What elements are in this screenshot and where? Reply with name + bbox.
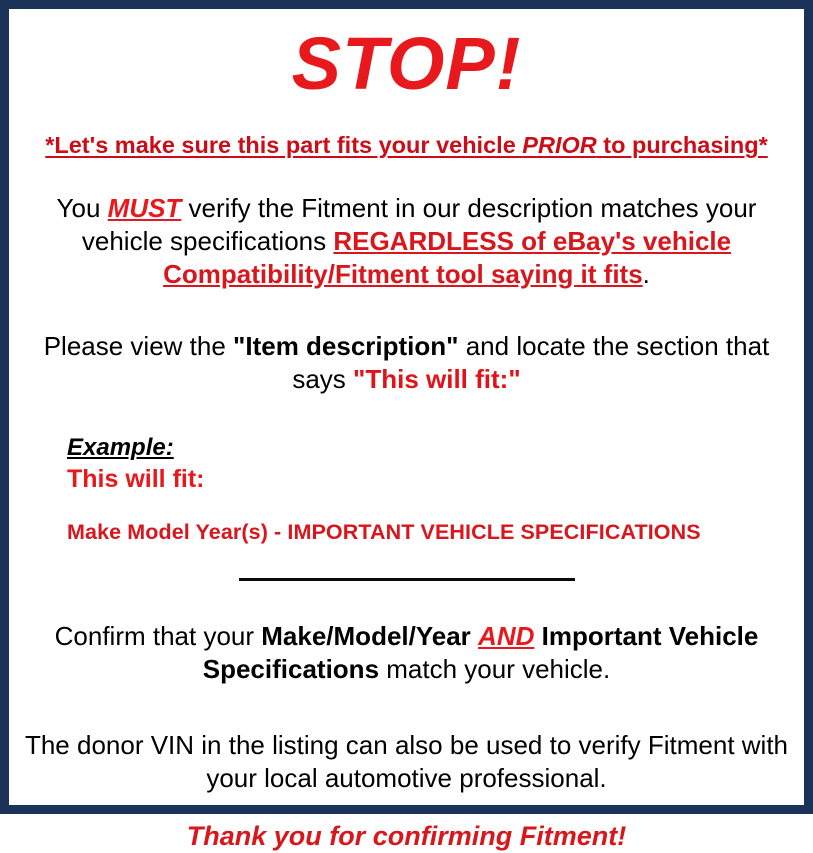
and-emphasis: AND xyxy=(478,621,534,651)
lead-warning-line: *Let's make sure this part fits your veh… xyxy=(23,131,790,159)
example-label-row: Example: xyxy=(67,434,790,462)
must-part1: You xyxy=(57,193,108,223)
lead-prefix-text: *Let's make sure this part fits your veh… xyxy=(45,132,522,158)
make-model-year-emphasis: Make/Model/Year xyxy=(261,621,471,651)
must-verify-paragraph: You MUST verify the Fitment in our descr… xyxy=(23,192,790,290)
stop-title: STOP! xyxy=(23,27,790,101)
must-part3: . xyxy=(643,259,650,289)
example-label: Example: xyxy=(67,434,174,462)
item-description-paragraph: Please view the "Item description" and l… xyxy=(23,330,790,396)
example-fit-header: This will fit: xyxy=(67,464,790,494)
lead-suffix-text: to purchasing* xyxy=(597,132,768,158)
section-divider-wrap xyxy=(23,572,790,586)
view-part1: Please view the xyxy=(44,331,233,361)
donor-vin-paragraph: The donor VIN in the listing can also be… xyxy=(23,729,790,795)
example-spec-line: Make Model Year(s) - IMPORTANT VEHICLE S… xyxy=(67,520,790,546)
item-description-emphasis: "Item description" xyxy=(233,331,458,361)
lead-emphasis-prior: PRIOR xyxy=(522,132,596,158)
confirm-paragraph: Confirm that your Make/Model/Year AND Im… xyxy=(23,620,790,686)
section-divider xyxy=(239,578,575,581)
confirm-part1: Confirm that your xyxy=(55,621,262,651)
must-emphasis: MUST xyxy=(108,193,182,223)
confirm-part2 xyxy=(471,621,478,651)
this-will-fit-emphasis: "This will fit:" xyxy=(353,364,521,394)
thank-you-line: Thank you for confirming Fitment! xyxy=(23,820,790,852)
confirm-part4: match your vehicle. xyxy=(379,654,610,684)
fitment-notice-frame: STOP! *Let's make sure this part fits yo… xyxy=(0,0,813,814)
confirm-part3 xyxy=(534,621,541,651)
example-block: Example: This will fit: Make Model Year(… xyxy=(23,434,790,545)
